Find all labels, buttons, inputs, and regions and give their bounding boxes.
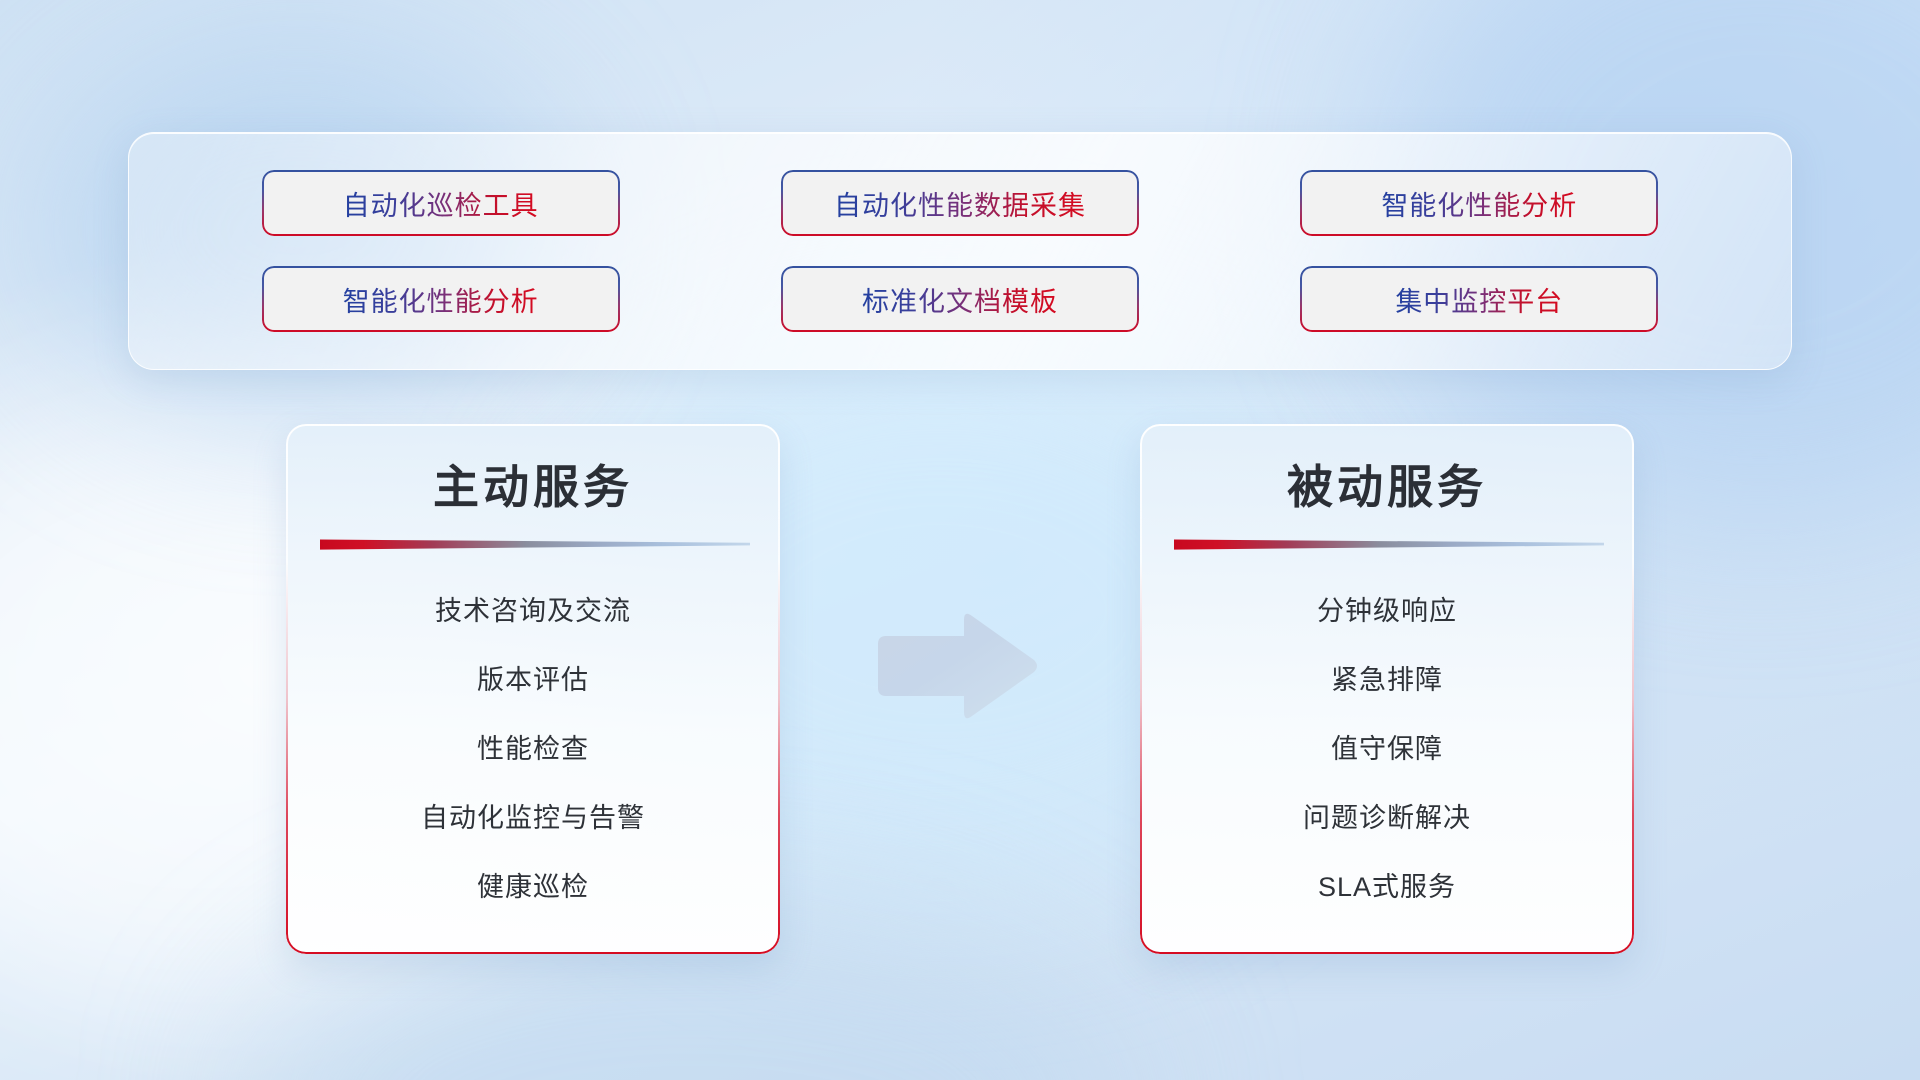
service-card-body: 主动服务 技术咨询及交流 版本评估 性能检查 自动化监控与告警 健康巡检 [286, 424, 780, 954]
capability-tag[interactable]: 标准化文档模板 [781, 266, 1139, 332]
capability-tag-label: 自动化巡检工具 [343, 184, 539, 223]
service-card-active: 主动服务 技术咨询及交流 版本评估 性能检查 自动化监控与告警 健康巡检 [286, 424, 780, 954]
service-card-title: 被动服务 [1174, 462, 1600, 513]
service-list-item[interactable]: 版本评估 [320, 653, 746, 708]
capability-tag[interactable]: 智能化性能分析 [1300, 170, 1658, 236]
capability-tag[interactable]: 智能化性能分析 [262, 266, 620, 332]
capability-tags-panel: 自动化巡检工具 自动化性能数据采集 智能化性能分析 智能化性能分析 标准化文档模… [128, 132, 1792, 370]
service-list-item[interactable]: SLA式服务 [1174, 860, 1600, 915]
title-underline-rule [320, 539, 750, 550]
service-list-item[interactable]: 自动化监控与告警 [320, 791, 746, 846]
service-card-title: 主动服务 [320, 462, 746, 513]
service-list-item[interactable]: 健康巡检 [320, 860, 746, 915]
capability-tag-label: 自动化性能数据采集 [834, 184, 1086, 223]
capability-tag-label: 智能化性能分析 [1381, 184, 1577, 223]
capability-tag-label: 集中监控平台 [1395, 280, 1563, 319]
service-list-item[interactable]: 值守保障 [1174, 722, 1600, 777]
service-list-item[interactable]: 技术咨询及交流 [320, 584, 746, 639]
arrow-right-icon [868, 608, 1040, 724]
capability-tag-label: 标准化文档模板 [862, 280, 1058, 319]
capability-tag[interactable]: 集中监控平台 [1300, 266, 1658, 332]
capability-tag[interactable]: 自动化性能数据采集 [781, 170, 1139, 236]
service-list-item[interactable]: 问题诊断解决 [1174, 791, 1600, 846]
service-item-list: 技术咨询及交流 版本评估 性能检查 自动化监控与告警 健康巡检 [320, 584, 746, 915]
service-list-item[interactable]: 紧急排障 [1174, 653, 1600, 708]
capability-tag-label: 智能化性能分析 [343, 280, 539, 319]
service-card-passive: 被动服务 分钟级响应 紧急排障 值守保障 问题诊断解决 SLA式服务 [1140, 424, 1634, 954]
service-list-item[interactable]: 性能检查 [320, 722, 746, 777]
title-underline-rule [1174, 539, 1604, 550]
service-item-list: 分钟级响应 紧急排障 值守保障 问题诊断解决 SLA式服务 [1174, 584, 1600, 915]
capability-tag[interactable]: 自动化巡检工具 [262, 170, 620, 236]
service-card-body: 被动服务 分钟级响应 紧急排障 值守保障 问题诊断解决 SLA式服务 [1140, 424, 1634, 954]
slide-canvas: 自动化巡检工具 自动化性能数据采集 智能化性能分析 智能化性能分析 标准化文档模… [0, 0, 1920, 1080]
service-list-item[interactable]: 分钟级响应 [1174, 584, 1600, 639]
